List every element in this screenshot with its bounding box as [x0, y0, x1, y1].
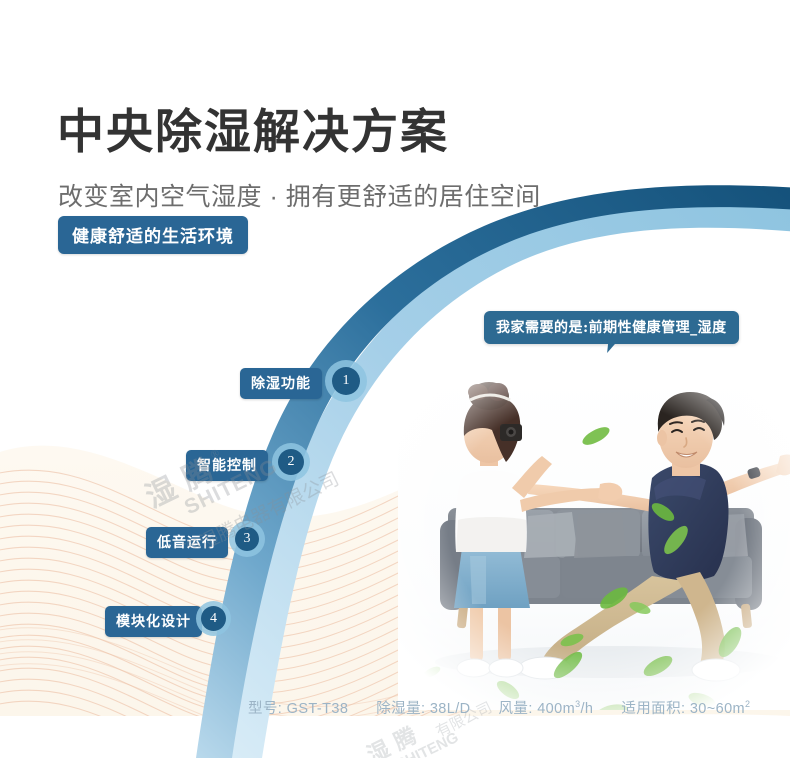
spec-area: 适用面积: 30~60m2 — [621, 697, 750, 718]
step-number-1: 1 — [343, 373, 350, 389]
step-circle-3[interactable]: 3 — [229, 521, 265, 557]
step-circle-2[interactable]: 2 — [272, 443, 310, 481]
spec-capacity: 除湿量: 38L/D — [376, 697, 470, 718]
spec-airflow-prefix: 风量: 400m — [499, 701, 576, 717]
spec-area-sup: 2 — [745, 699, 750, 709]
step-label-4[interactable]: 模块化设计 — [105, 606, 202, 637]
step-circle-1[interactable]: 1 — [325, 360, 367, 402]
speech-bubble-tail — [607, 336, 630, 353]
spec-model: 型号: GST-T38 — [248, 697, 348, 718]
tagline-badge: 健康舒适的生活环境 — [58, 216, 248, 254]
step-number-3: 3 — [244, 531, 251, 547]
content-layer: 中央除湿解决方案 改变室内空气湿度 · 拥有更舒适的居住空间 健康舒适的生活环境… — [0, 0, 790, 758]
spec-airflow-suffix: /h — [580, 701, 593, 717]
step-number-4: 4 — [210, 611, 217, 627]
step-label-2[interactable]: 智能控制 — [186, 450, 268, 481]
page-subtitle: 改变室内空气湿度 · 拥有更舒适的居住空间 — [58, 177, 541, 213]
spec-bar: 型号: GST-T38 除湿量: 38L/D 风量: 400m3/h 适用面积:… — [248, 697, 750, 718]
page-title: 中央除湿解决方案 — [57, 108, 449, 157]
spec-airflow: 风量: 400m3/h — [499, 697, 594, 718]
poster-canvas: 中央除湿解决方案 改变室内空气湿度 · 拥有更舒适的居住空间 健康舒适的生活环境… — [0, 0, 790, 758]
step-label-3[interactable]: 低音运行 — [146, 527, 228, 558]
step-circle-4[interactable]: 4 — [196, 601, 231, 636]
step-label-1[interactable]: 除湿功能 — [240, 368, 322, 399]
step-number-2: 2 — [288, 454, 295, 470]
spec-area-prefix: 适用面积: 30~60m — [621, 701, 745, 717]
